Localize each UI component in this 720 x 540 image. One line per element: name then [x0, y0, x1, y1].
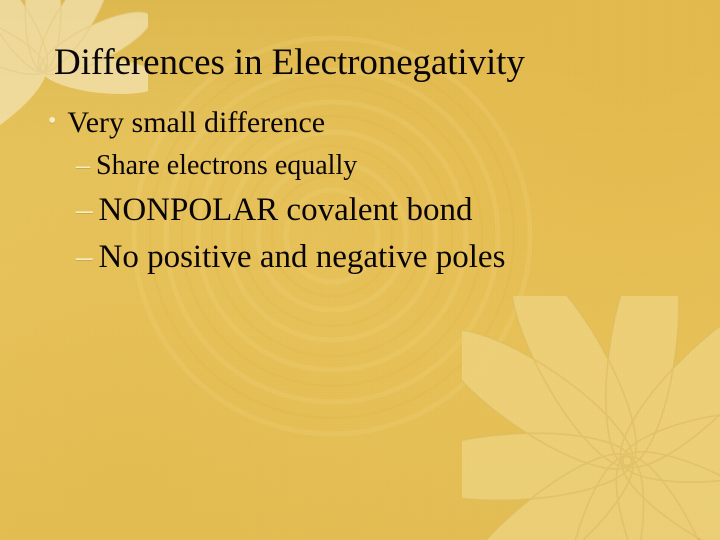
- list-item: • Very small difference: [0, 108, 720, 138]
- list-item-label: Share electrons equally: [96, 152, 357, 180]
- list-item: – NONPOLAR covalent bond: [0, 194, 720, 227]
- presentation-slide: Differences in Electronegativity • Very …: [0, 0, 720, 540]
- bullet-list: • Very small difference – Share electron…: [0, 108, 720, 288]
- dash-marker-icon: –: [76, 241, 93, 274]
- list-item-label: Very small difference: [67, 108, 325, 138]
- dash-marker-icon: –: [76, 194, 93, 227]
- dash-marker-icon: –: [76, 152, 90, 180]
- list-item: – No positive and negative poles: [0, 241, 720, 274]
- list-item-label: No positive and negative poles: [99, 241, 506, 274]
- bullet-marker-icon: •: [48, 109, 56, 133]
- list-item-label: NONPOLAR covalent bond: [99, 194, 473, 227]
- list-item: – Share electrons equally: [0, 152, 720, 180]
- flower-icon-bottom-right: [462, 296, 720, 540]
- page-title: Differences in Electronegativity: [54, 43, 684, 83]
